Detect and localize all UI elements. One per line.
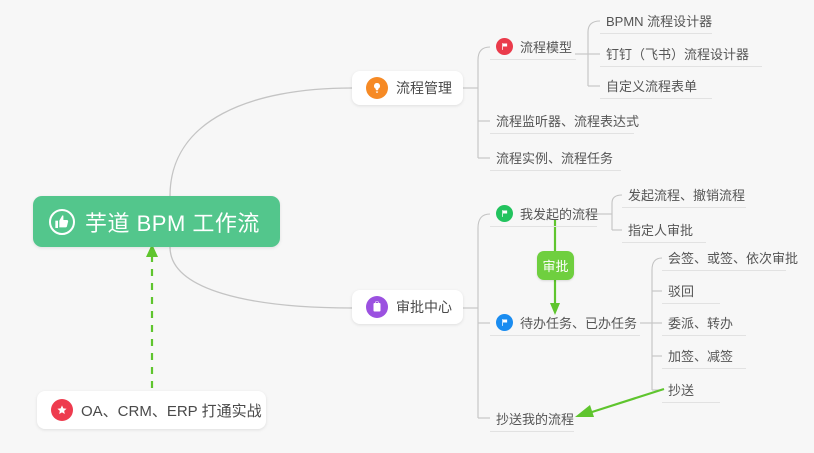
- clipboard-icon: [366, 296, 388, 318]
- flag-icon: [496, 38, 513, 55]
- node-label-todo-done-task: 待办任务、已办任务: [520, 313, 637, 332]
- node-oa-crm-erp[interactable]: OA、CRM、ERP 打通实战: [37, 391, 266, 429]
- star-icon: [51, 399, 73, 421]
- root-label: 芋道 BPM 工作流: [85, 206, 260, 238]
- leaf-label-reject: 驳回: [668, 281, 694, 300]
- leaf-reject[interactable]: 驳回: [662, 278, 720, 304]
- node-process-model[interactable]: 流程模型: [490, 34, 576, 60]
- leaf-custom-process-form[interactable]: 自定义流程表单: [600, 73, 712, 99]
- branch-node-process-management[interactable]: 流程管理: [352, 71, 463, 105]
- mindmap-canvas: 芋道 BPM 工作流 流程管理 流程模型 BPMN 流程设计器 钉钉（飞书）流程…: [0, 0, 814, 453]
- leaf-label-bpmn-designer: BPMN 流程设计器: [606, 11, 712, 30]
- leaf-cc[interactable]: 抄送: [662, 377, 720, 403]
- leaf-cc-to-me-process[interactable]: 抄送我的流程: [490, 406, 574, 432]
- leaf-label-process-instance-task: 流程实例、流程任务: [496, 148, 613, 167]
- badge-approve[interactable]: 审批: [537, 251, 574, 280]
- leaf-label-delegate-transfer: 委派、转办: [668, 313, 733, 332]
- badge-approve-label: 审批: [542, 256, 568, 275]
- node-label-oa-crm-erp: OA、CRM、ERP 打通实战: [81, 400, 262, 421]
- leaf-label-start-cancel-process: 发起流程、撤销流程: [628, 185, 745, 204]
- leaf-label-process-listener-expression: 流程监听器、流程表达式: [496, 111, 639, 130]
- node-todo-done-task[interactable]: 待办任务、已办任务: [490, 310, 640, 336]
- leaf-delegate-transfer[interactable]: 委派、转办: [662, 310, 746, 336]
- lightbulb-icon: [366, 77, 388, 99]
- branch-node-approval-center[interactable]: 审批中心: [352, 290, 463, 324]
- leaf-designated-approver[interactable]: 指定人审批: [622, 217, 706, 243]
- thumbs-up-icon: [49, 209, 75, 235]
- leaf-process-instance-task[interactable]: 流程实例、流程任务: [490, 145, 621, 171]
- flag-icon: [496, 314, 513, 331]
- root-node[interactable]: 芋道 BPM 工作流: [33, 196, 280, 247]
- leaf-add-remove-sign[interactable]: 加签、减签: [662, 343, 746, 369]
- leaf-start-cancel-process[interactable]: 发起流程、撤销流程: [622, 182, 746, 208]
- node-label-process-model: 流程模型: [520, 37, 572, 56]
- leaf-process-listener-expression[interactable]: 流程监听器、流程表达式: [490, 108, 634, 134]
- branch-label-approval-center: 审批中心: [396, 297, 452, 317]
- node-label-my-initiated-process: 我发起的流程: [520, 204, 598, 223]
- leaf-label-dingtalk-feishu-designer: 钉钉（飞书）流程设计器: [606, 44, 749, 63]
- leaf-label-countersign-orsign-sequential: 会签、或签、依次审批: [668, 248, 798, 267]
- leaf-countersign-orsign-sequential[interactable]: 会签、或签、依次审批: [662, 245, 786, 271]
- leaf-label-cc: 抄送: [668, 380, 694, 399]
- leaf-bpmn-designer[interactable]: BPMN 流程设计器: [600, 8, 712, 34]
- leaf-label-custom-process-form: 自定义流程表单: [606, 76, 697, 95]
- leaf-label-designated-approver: 指定人审批: [628, 220, 693, 239]
- leaf-label-add-remove-sign: 加签、减签: [668, 346, 733, 365]
- node-my-initiated-process[interactable]: 我发起的流程: [490, 201, 597, 227]
- branch-label-process-management: 流程管理: [396, 78, 452, 98]
- flag-icon: [496, 205, 513, 222]
- leaf-label-cc-to-me-process: 抄送我的流程: [496, 409, 574, 428]
- leaf-dingtalk-feishu-designer[interactable]: 钉钉（飞书）流程设计器: [600, 41, 762, 67]
